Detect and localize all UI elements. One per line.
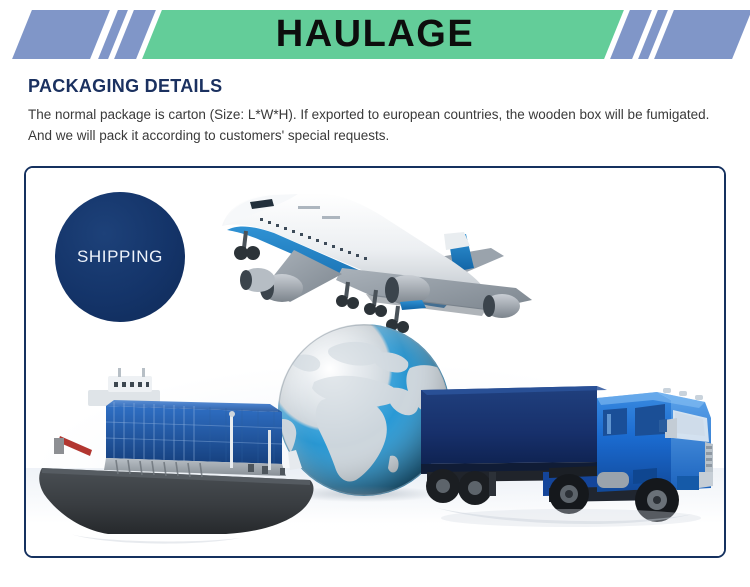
section-heading: PACKAGING DETAILS xyxy=(28,76,222,97)
shipping-badge: SHIPPING xyxy=(55,192,185,322)
cargo-ship-icon xyxy=(30,364,330,544)
promo-page: HAULAGE PACKAGING DETAILS The normal pac… xyxy=(0,0,750,587)
semi-truck-icon xyxy=(421,376,726,544)
section-body-text: The normal package is carton (Size: L*W*… xyxy=(28,104,716,146)
shipping-badge-label: SHIPPING xyxy=(77,247,163,267)
header-banner: HAULAGE xyxy=(0,10,750,59)
illustration-panel: SHIPPING xyxy=(24,166,726,558)
banner-title: HAULAGE xyxy=(0,10,750,59)
